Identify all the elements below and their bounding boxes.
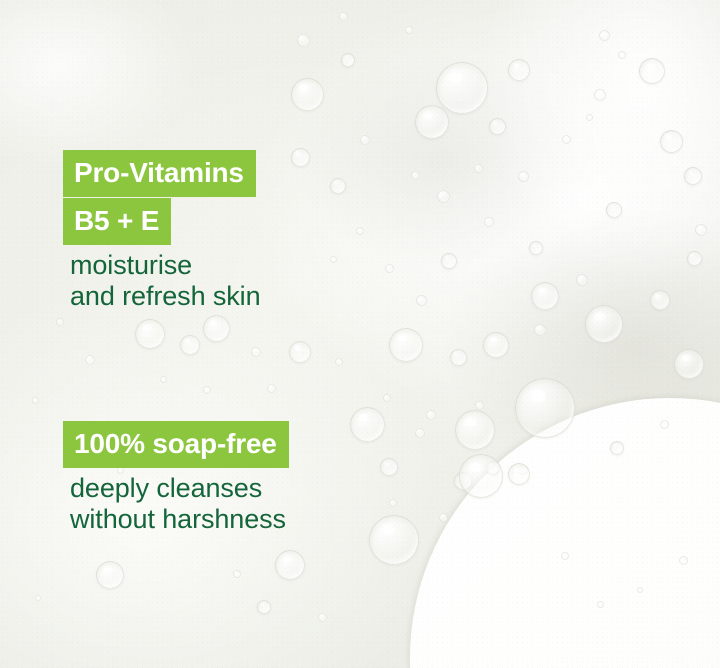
badge-100-percent-soap-free: 100% soap-free bbox=[63, 421, 289, 468]
product-marketing-graphic: Pro-Vitamins B5 + E moisturise and refre… bbox=[0, 0, 720, 668]
description-deeply-cleanses: deeply cleanses without harshness bbox=[70, 473, 286, 536]
badge-b5-plus-e: B5 + E bbox=[63, 198, 171, 245]
description-moisturise: moisturise and refresh skin bbox=[70, 250, 261, 313]
text-layer: Pro-Vitamins B5 + E moisturise and refre… bbox=[0, 0, 720, 668]
badge-pro-vitamins: Pro-Vitamins bbox=[63, 150, 256, 197]
